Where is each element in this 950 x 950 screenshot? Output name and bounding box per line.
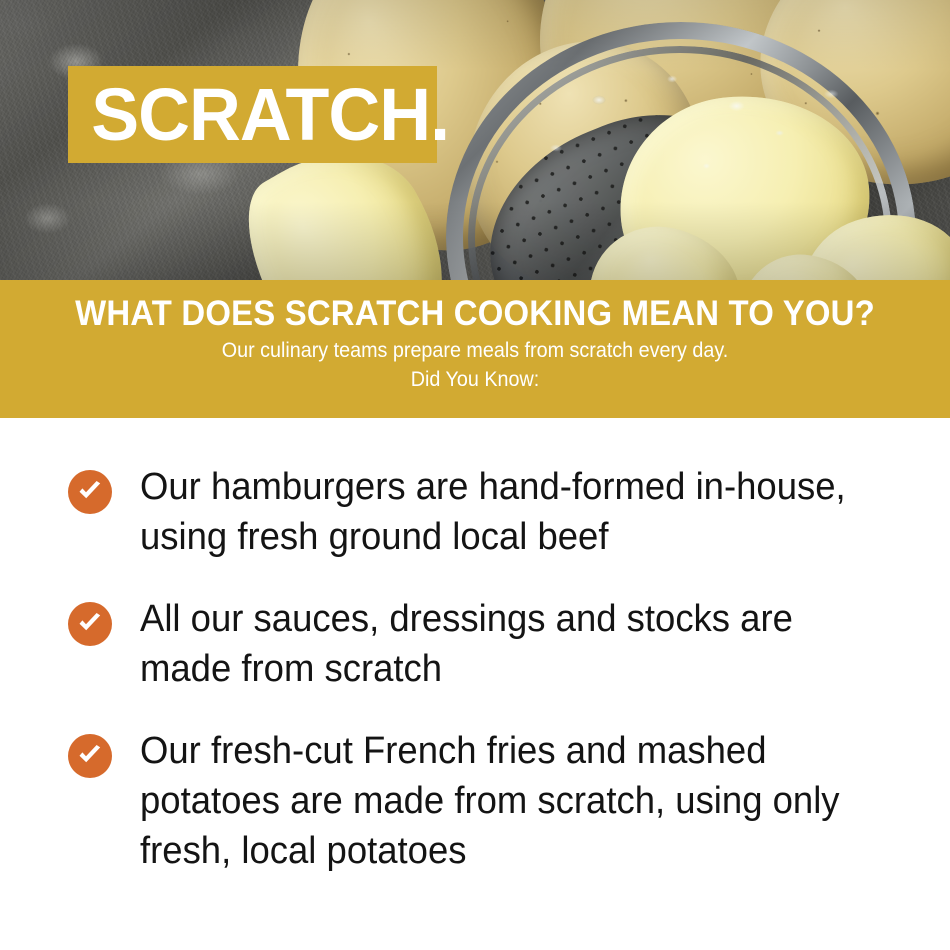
headline-title: WHAT DOES SCRATCH COOKING MEAN TO YOU? bbox=[29, 292, 922, 336]
list-item-text: All our sauces, dressings and stocks are… bbox=[140, 594, 879, 694]
scratch-badge: SCRATCH. bbox=[68, 66, 437, 163]
list-item: Our hamburgers are hand-formed in-house,… bbox=[68, 462, 910, 562]
list-item-text: Our hamburgers are hand-formed in-house,… bbox=[140, 462, 879, 562]
check-circle-icon bbox=[68, 602, 112, 646]
headline-subtitle-line-1: Our culinary teams prepare meals from sc… bbox=[29, 336, 922, 365]
headline-band: WHAT DOES SCRATCH COOKING MEAN TO YOU? O… bbox=[0, 280, 950, 418]
list-item-text: Our fresh-cut French fries and mashed po… bbox=[140, 726, 879, 876]
list-item: Our fresh-cut French fries and mashed po… bbox=[68, 726, 910, 876]
scratch-cooking-infographic: SCRATCH. WHAT DOES SCRATCH COOKING MEAN … bbox=[0, 0, 950, 950]
check-circle-icon bbox=[68, 734, 112, 778]
headline-subtitle-line-2: Did You Know: bbox=[29, 365, 922, 394]
check-circle-icon bbox=[68, 470, 112, 514]
list-item: All our sauces, dressings and stocks are… bbox=[68, 594, 910, 694]
hero-section: SCRATCH. bbox=[0, 0, 950, 280]
fact-list: Our hamburgers are hand-formed in-house,… bbox=[0, 418, 950, 876]
scratch-badge-label: SCRATCH. bbox=[68, 78, 449, 152]
